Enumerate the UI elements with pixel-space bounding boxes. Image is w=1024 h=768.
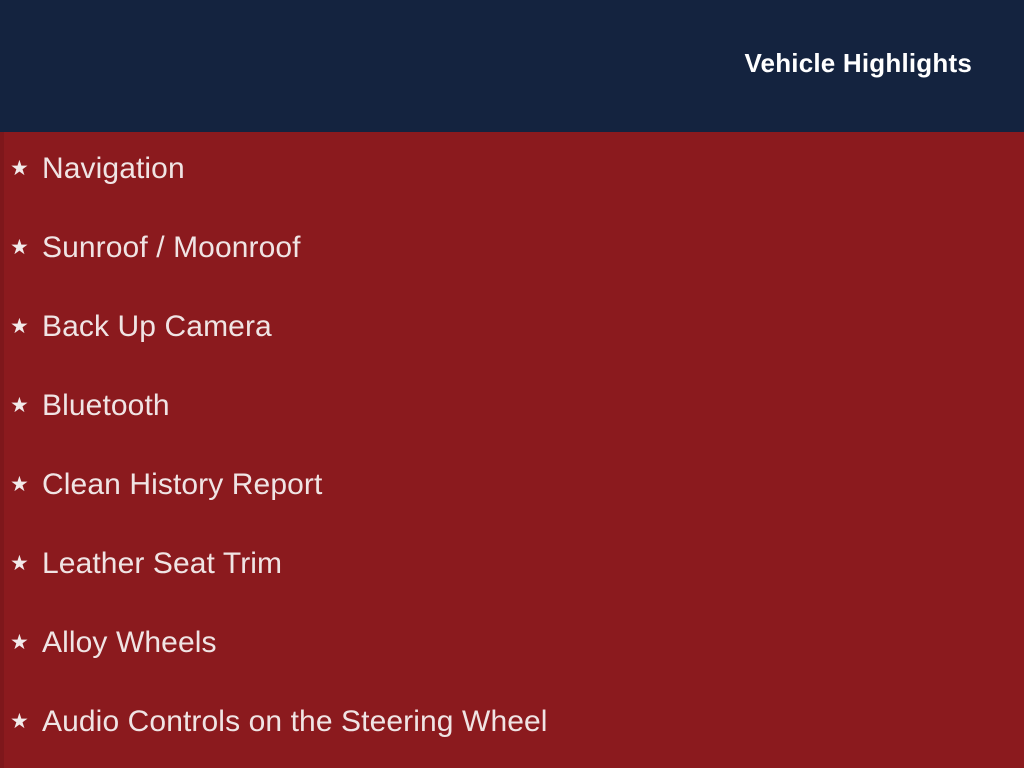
star-bullet-icon: ★ <box>10 553 32 574</box>
feature-label: Back Up Camera <box>42 308 272 346</box>
star-bullet-icon: ★ <box>10 395 32 416</box>
star-bullet-icon: ★ <box>10 711 32 732</box>
header-band: Vehicle Highlights <box>0 0 1024 132</box>
list-item: ★ Navigation <box>10 149 185 189</box>
list-item: ★ Audio Controls on the Steering Wheel <box>10 702 548 742</box>
star-bullet-icon: ★ <box>10 237 32 258</box>
list-item: ★ Sunroof / Moonroof <box>10 228 301 268</box>
feature-label: Navigation <box>42 150 185 188</box>
list-item: ★ Clean History Report <box>10 465 322 505</box>
list-item: ★ Leather Seat Trim <box>10 544 282 584</box>
feature-label: Bluetooth <box>42 387 170 425</box>
vehicle-highlights-slide: Vehicle Highlights ★ Navigation ★ Sunroo… <box>0 0 1024 768</box>
star-bullet-icon: ★ <box>10 474 32 495</box>
feature-label: Alloy Wheels <box>42 624 217 662</box>
star-bullet-icon: ★ <box>10 632 32 653</box>
feature-label: Clean History Report <box>42 466 322 504</box>
page-title: Vehicle Highlights <box>744 47 972 79</box>
star-bullet-icon: ★ <box>10 316 32 337</box>
list-item: ★ Bluetooth <box>10 386 170 426</box>
star-bullet-icon: ★ <box>10 158 32 179</box>
feature-label: Leather Seat Trim <box>42 545 282 583</box>
feature-list-panel: ★ Navigation ★ Sunroof / Moonroof ★ Back… <box>0 132 1024 768</box>
feature-label: Audio Controls on the Steering Wheel <box>42 703 548 741</box>
feature-label: Sunroof / Moonroof <box>42 229 301 267</box>
list-item: ★ Back Up Camera <box>10 307 272 347</box>
list-item: ★ Alloy Wheels <box>10 623 217 663</box>
left-edge-strip <box>0 132 4 768</box>
